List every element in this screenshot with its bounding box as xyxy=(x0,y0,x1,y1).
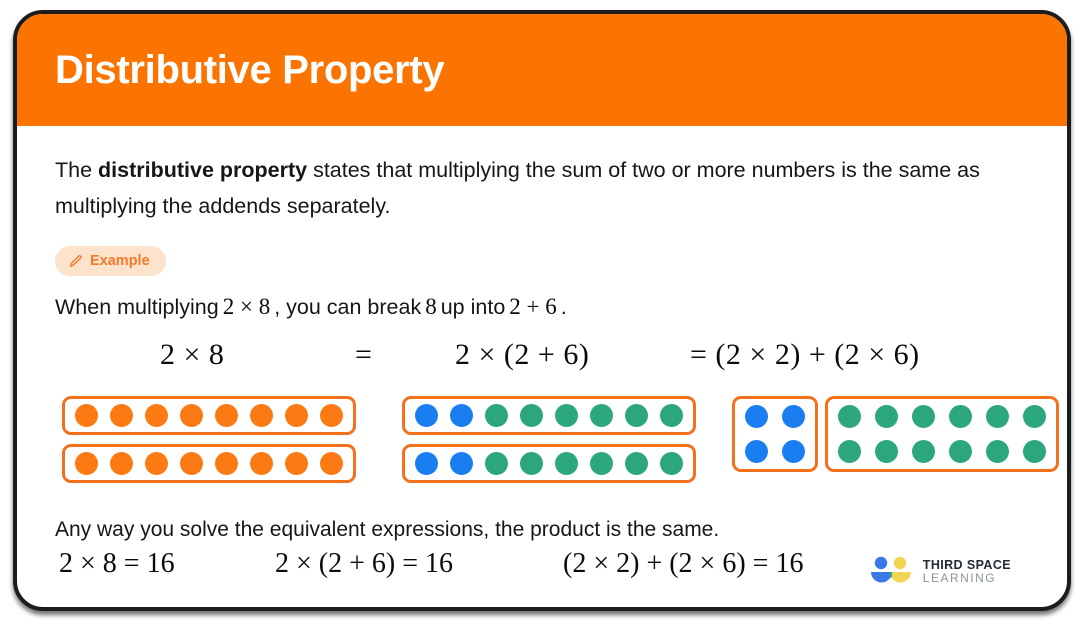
dot-green xyxy=(625,404,648,427)
dot-green xyxy=(875,405,898,428)
intro-paragraph: The distributive property states that mu… xyxy=(55,152,1005,224)
dot-green xyxy=(520,404,543,427)
example-text-1: When multiplying xyxy=(55,295,219,320)
dot-green xyxy=(949,405,972,428)
dot-green xyxy=(520,452,543,475)
array-models xyxy=(55,396,1029,502)
logo-line-2: LEARNING xyxy=(923,572,1011,585)
dot-green xyxy=(1023,405,1046,428)
example-text-4: . xyxy=(561,295,567,320)
dot-orange xyxy=(250,404,273,427)
equation-expr-c: = (2 × 2) + (2 × 6) xyxy=(690,338,920,372)
final-equation-2: 2 × (2 + 6) = 16 xyxy=(275,548,453,580)
array-box-green xyxy=(825,396,1059,472)
final-equation-row: 2 × 8 = 16 2 × (2 + 6) = 16 (2 × 2) + (2… xyxy=(55,548,1029,600)
dot-green xyxy=(590,404,613,427)
logo-mark-icon xyxy=(868,556,914,587)
dot-green xyxy=(838,440,861,463)
intro-bold-term: distributive property xyxy=(98,158,307,182)
example-badge-label: Example xyxy=(90,253,150,269)
dot-orange xyxy=(145,452,168,475)
card-header: Distributive Property xyxy=(17,14,1067,126)
array-box xyxy=(402,396,696,435)
example-math-3: 2 + 6 xyxy=(505,294,560,320)
dot-blue xyxy=(782,405,805,428)
dot-orange xyxy=(250,452,273,475)
example-math-2: 8 xyxy=(421,294,441,320)
third-space-learning-logo: THIRD SPACE LEARNING xyxy=(868,556,1011,587)
dot-green xyxy=(660,452,683,475)
dot-green xyxy=(555,404,578,427)
page-title: Distributive Property xyxy=(55,48,444,93)
dot-green xyxy=(485,404,508,427)
dot-green xyxy=(838,405,861,428)
dot-green xyxy=(660,404,683,427)
array-group-1 xyxy=(62,396,356,483)
final-equation-3: (2 × 2) + (2 × 6) = 16 xyxy=(563,548,803,580)
dot-green xyxy=(912,405,935,428)
array-box-blue xyxy=(732,396,818,472)
logo-line-1: THIRD SPACE xyxy=(923,558,1011,572)
pencil-icon xyxy=(68,254,83,269)
intro-prefix: The xyxy=(55,158,98,182)
dot-blue xyxy=(450,452,473,475)
array-row xyxy=(745,405,805,428)
dot-green xyxy=(875,440,898,463)
dot-blue xyxy=(415,452,438,475)
example-text-3: up into xyxy=(441,295,506,320)
dot-green xyxy=(986,405,1009,428)
logo-wordmark: THIRD SPACE LEARNING xyxy=(923,558,1011,585)
dot-green xyxy=(625,452,648,475)
dot-orange xyxy=(180,404,203,427)
dot-orange xyxy=(75,404,98,427)
dot-orange xyxy=(320,452,343,475)
equation-expr-b: 2 × (2 + 6) xyxy=(455,338,589,372)
example-text-2: , you can break xyxy=(274,295,421,320)
dot-blue xyxy=(782,440,805,463)
dot-green xyxy=(986,440,1009,463)
dot-orange xyxy=(75,452,98,475)
dot-green xyxy=(912,440,935,463)
dot-green xyxy=(590,452,613,475)
dot-green xyxy=(949,440,972,463)
slide-canvas: Distributive Property The distributive p… xyxy=(0,0,1086,629)
example-math-1: 2 × 8 xyxy=(219,294,274,320)
dot-blue xyxy=(450,404,473,427)
dot-green xyxy=(1023,440,1046,463)
equation-row: 2 × 8 = 2 × (2 + 6) = (2 × 2) + (2 × 6) xyxy=(55,338,1029,394)
dot-orange xyxy=(145,404,168,427)
dot-green xyxy=(555,452,578,475)
dot-orange xyxy=(110,404,133,427)
dot-orange xyxy=(215,452,238,475)
dot-orange xyxy=(285,404,308,427)
dot-green xyxy=(485,452,508,475)
dot-orange xyxy=(285,452,308,475)
dot-orange xyxy=(320,404,343,427)
example-badge: Example xyxy=(55,246,166,276)
dot-orange xyxy=(110,452,133,475)
array-box xyxy=(62,396,356,435)
array-row xyxy=(745,440,805,463)
dot-blue xyxy=(745,405,768,428)
card-body: The distributive property states that mu… xyxy=(17,152,1067,600)
array-box xyxy=(402,444,696,483)
array-row xyxy=(838,440,1046,463)
dot-blue xyxy=(415,404,438,427)
lesson-card: Distributive Property The distributive p… xyxy=(13,10,1071,611)
equation-equals-sign: = xyxy=(355,338,372,372)
array-group-2 xyxy=(402,396,696,483)
dot-orange xyxy=(180,452,203,475)
array-box xyxy=(62,444,356,483)
closing-sentence: Any way you solve the equivalent express… xyxy=(55,518,1029,542)
equation-expr-a: 2 × 8 xyxy=(160,338,224,372)
dot-blue xyxy=(745,440,768,463)
array-row xyxy=(838,405,1046,428)
example-sentence: When multiplying 2 × 8, you can break 8 … xyxy=(55,294,1029,320)
dot-orange xyxy=(215,404,238,427)
array-group-3 xyxy=(732,396,1059,472)
final-equation-1: 2 × 8 = 16 xyxy=(59,548,175,580)
